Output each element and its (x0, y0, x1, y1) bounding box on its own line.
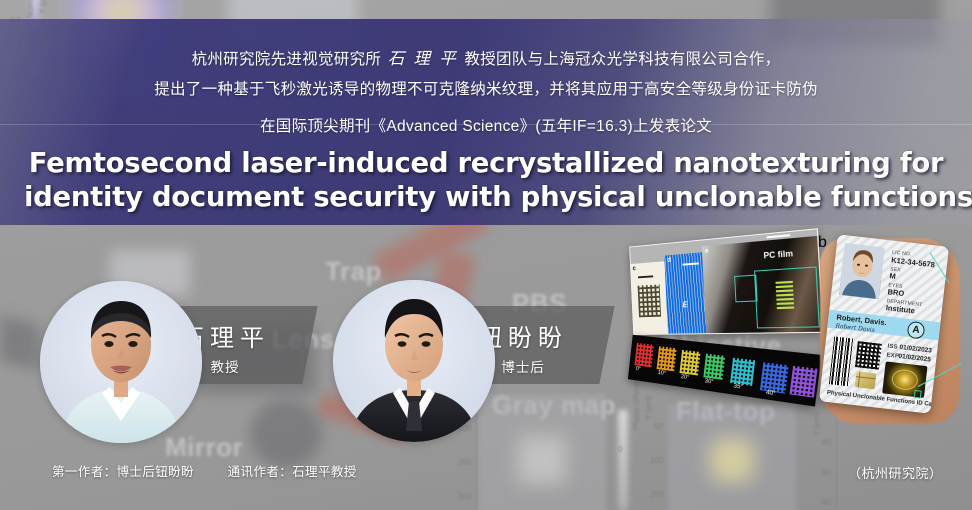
angle-tag-35: 35° (733, 383, 743, 390)
id-card: LIC NO. K12-34-5678 SEX M EYES BRO DEPAR… (819, 234, 949, 414)
person-2-avatar (333, 280, 495, 442)
id-card-chip (855, 371, 877, 389)
institute-credit: （杭州研究院） (848, 463, 943, 482)
id-card-issue-label: ISS (887, 344, 898, 351)
qr-code-sample-c (638, 284, 661, 317)
figure-green-pattern (775, 281, 794, 309)
figure-label-c: c (633, 265, 637, 272)
figure-field-label-E: E (682, 300, 687, 309)
id-card-barcode (829, 336, 854, 386)
first-author-label: 第一作者：博士后钮盼盼 (52, 465, 194, 479)
qr-angle-30 (703, 354, 725, 380)
id-card-field-value-department: Institute (885, 303, 915, 315)
qr-angle-35 (730, 358, 755, 386)
person-card-2: 钮盼盼 博士后 (0, 0, 660, 510)
authors-credit: 第一作者：博士后钮盼盼 通讯作者：石理平教授 (52, 461, 357, 480)
angle-tag-20: 20° (680, 374, 689, 381)
qr-angle-20 (679, 350, 700, 376)
figure-cell-c: c (631, 261, 668, 334)
bg-flattop-square (708, 436, 756, 484)
id-card-qr-code (855, 341, 882, 370)
id-card-puf-roi-box (914, 390, 922, 399)
angle-tag-30: 30° (704, 378, 713, 385)
portrait-illustration (839, 243, 885, 299)
id-card-portrait-photo (839, 243, 885, 299)
figure-angle-series-strip: 0° 10° 20° 30° 35° 40° (628, 335, 822, 407)
angle-tag-40: 40° (766, 390, 776, 398)
angle-tag-10: 10° (658, 370, 667, 377)
angle-tag-0: 0° (635, 366, 640, 372)
figure-label-d: d (667, 257, 671, 264)
id-card-field-value-eyes: BRO (887, 287, 905, 298)
id-card-scene: b LIC NO. K12-34-5678 SEX M EYES BRO DEP… (818, 234, 964, 426)
figure-label-e: e (705, 248, 709, 255)
corresponding-author-label: 通讯作者：石理平教授 (228, 465, 357, 479)
id-card-field-value-sex: M (889, 271, 896, 281)
qr-angle-10 (657, 346, 677, 371)
id-card-expiry-date: 01/02/2025 (898, 353, 931, 364)
figure-cell-d: d E (664, 252, 706, 333)
qr-angle-40 (760, 362, 789, 393)
figure-montage: c d E e PC film 0° (618, 232, 833, 422)
figure-pcfilm-label: PC film (763, 249, 793, 261)
scale-bar-d (682, 262, 699, 265)
qr-angle-0 (634, 343, 654, 368)
qr-angle-45 (790, 366, 818, 398)
bg-right-tick-40: 40 (822, 438, 831, 447)
figure-cell-e: e PC film (702, 236, 823, 333)
bg-right-yaxis (836, 412, 837, 510)
person-2-avatar-illustration (333, 280, 495, 442)
figure-panel-strip: c d E e PC film (629, 228, 823, 335)
bg-right-tick-60: 60 (822, 468, 831, 477)
scale-bar-c (638, 275, 653, 278)
bg-right-tick-80: 80 (822, 498, 831, 507)
poster-canvas: Normalized 0.6 0.4 0.2 0.0 Y (μm) 100 15… (0, 0, 972, 510)
